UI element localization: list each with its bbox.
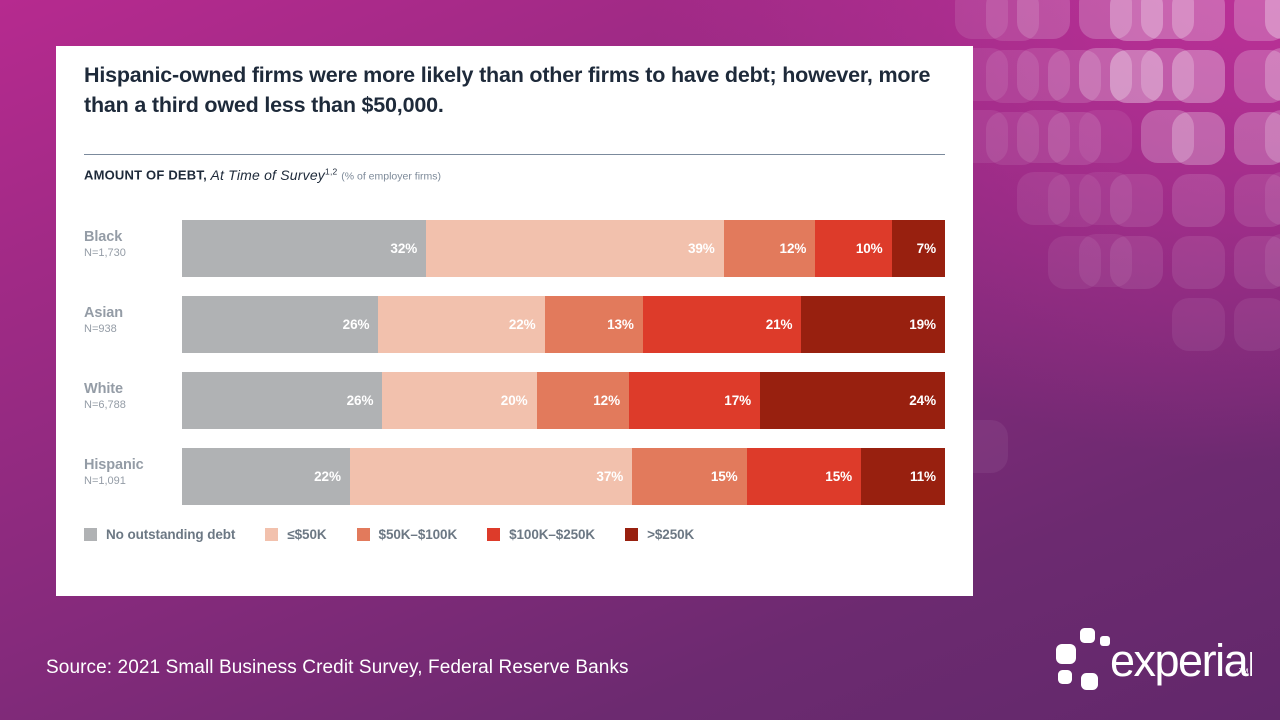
background-tile: [1172, 236, 1225, 289]
bar-segment-value: 12%: [780, 241, 807, 256]
bar-segment[interactable]: 15%: [747, 448, 861, 505]
background-tile: [1172, 0, 1225, 41]
bar-segment[interactable]: 39%: [426, 220, 724, 277]
chart-row-group-name: Black: [84, 228, 174, 246]
bar-segment[interactable]: 12%: [537, 372, 629, 429]
chart-subtitle-italic-text: At Time of Survey: [210, 167, 325, 183]
chart-row-sample-size: N=1,091: [84, 474, 174, 489]
stacked-bar: 26%22%13%21%19%: [182, 296, 945, 353]
chart-subtitle-bold: AMOUNT OF DEBT,: [84, 168, 207, 183]
background-tile: [1110, 174, 1163, 227]
stacked-bar: 22%37%15%15%11%: [182, 448, 945, 505]
bar-segment-value: 20%: [501, 393, 528, 408]
background-tile: [1234, 0, 1280, 41]
slide-canvas: Hispanic-owned firms were more likely th…: [0, 0, 1280, 720]
chart-row-sample-size: N=1,730: [84, 246, 174, 261]
background-tile: [1234, 236, 1280, 289]
legend-swatch-icon: [487, 528, 500, 541]
chart-row-label: WhiteN=6,788: [84, 380, 174, 413]
bar-segment-value: 15%: [825, 469, 852, 484]
background-tile: [986, 112, 1039, 165]
chart-row-group-name: Asian: [84, 304, 174, 322]
background-tile: [1234, 174, 1280, 227]
chart-subtitle-italic: At Time of Survey1,2: [207, 167, 338, 183]
bar-segment-value: 19%: [909, 317, 936, 332]
experian-wordmark: experian: [1110, 635, 1252, 686]
background-tile: [1172, 174, 1225, 227]
bar-segment-value: 39%: [688, 241, 715, 256]
background-tile: [1172, 112, 1225, 165]
chart-row-label: AsianN=938: [84, 304, 174, 337]
page-title: Hispanic-owned firms were more likely th…: [84, 60, 950, 120]
chart-row-group-name: Hispanic: [84, 456, 174, 474]
chart-subtitle: AMOUNT OF DEBT, At Time of Survey1,2 (% …: [84, 166, 441, 183]
background-tile: [1172, 298, 1225, 351]
legend-item-label: ≤$50K: [287, 527, 326, 542]
bar-segment-value: 22%: [314, 469, 341, 484]
bar-segment[interactable]: 22%: [378, 296, 544, 353]
background-tile: [1172, 50, 1225, 103]
bar-segment[interactable]: 24%: [760, 372, 945, 429]
legend-swatch-icon: [265, 528, 278, 541]
legend-item[interactable]: >$250K: [625, 527, 694, 542]
bar-segment-value: 17%: [724, 393, 751, 408]
bar-segment[interactable]: 10%: [815, 220, 891, 277]
bar-segment-value: 21%: [766, 317, 793, 332]
bar-segment-value: 13%: [607, 317, 634, 332]
background-tile: [1048, 236, 1101, 289]
chart-row: BlackN=1,73032%39%12%10%7%: [84, 220, 945, 277]
background-tile: [1048, 112, 1101, 165]
bar-segment[interactable]: 19%: [801, 296, 945, 353]
legend-item-label: >$250K: [647, 527, 694, 542]
background-tile: [1048, 50, 1101, 103]
bar-segment-value: 32%: [390, 241, 417, 256]
bar-segment-value: 11%: [910, 469, 936, 484]
bar-segment-value: 24%: [909, 393, 936, 408]
legend-swatch-icon: [84, 528, 97, 541]
chart-row-label: HispanicN=1,091: [84, 456, 174, 489]
bar-segment[interactable]: 12%: [724, 220, 816, 277]
bar-segment[interactable]: 22%: [182, 448, 350, 505]
bar-segment[interactable]: 11%: [861, 448, 945, 505]
legend-item[interactable]: No outstanding debt: [84, 527, 235, 542]
chart-row-group-name: White: [84, 380, 174, 398]
bar-segment[interactable]: 37%: [350, 448, 632, 505]
bar-segment[interactable]: 17%: [629, 372, 760, 429]
background-tile: [1110, 50, 1163, 103]
legend-item-label: $50K–$100K: [379, 527, 458, 542]
chart-row: HispanicN=1,09122%37%15%15%11%: [84, 448, 945, 505]
legend-swatch-icon: [357, 528, 370, 541]
divider: [84, 154, 945, 155]
legend-item[interactable]: ≤$50K: [265, 527, 326, 542]
chart-subtitle-note: (% of employer firms): [341, 171, 441, 183]
bar-segment-value: 12%: [593, 393, 620, 408]
bar-segment-value: 10%: [856, 241, 883, 256]
background-tile: [1110, 0, 1163, 41]
stacked-bar-chart: BlackN=1,73032%39%12%10%7%AsianN=93826%2…: [84, 220, 945, 524]
bar-segment[interactable]: 32%: [182, 220, 426, 277]
legend-item[interactable]: $50K–$100K: [357, 527, 458, 542]
bar-segment[interactable]: 13%: [545, 296, 643, 353]
bar-segment-value: 22%: [509, 317, 536, 332]
bar-segment[interactable]: 26%: [182, 372, 382, 429]
experian-logo-svg: experian ™: [1052, 624, 1252, 692]
bar-segment-value: 26%: [343, 317, 370, 332]
background-tile: [1234, 298, 1280, 351]
legend-item-label: $100K–$250K: [509, 527, 595, 542]
bar-segment[interactable]: 7%: [892, 220, 945, 277]
legend-item[interactable]: $100K–$250K: [487, 527, 595, 542]
background-tile: [1234, 50, 1280, 103]
background-tile: [1110, 236, 1163, 289]
experian-trademark: ™: [1238, 667, 1249, 679]
stacked-bar: 26%20%12%17%24%: [182, 372, 945, 429]
chart-subtitle-footnote-marker: 1,2: [325, 166, 337, 176]
bar-segment-value: 26%: [347, 393, 374, 408]
bar-segment[interactable]: 15%: [632, 448, 746, 505]
bar-segment[interactable]: 21%: [643, 296, 802, 353]
chart-row-sample-size: N=6,788: [84, 398, 174, 413]
legend-swatch-icon: [625, 528, 638, 541]
experian-logo: experian ™: [1052, 624, 1252, 692]
chart-card: Hispanic-owned firms were more likely th…: [56, 46, 973, 596]
source-note: Source: 2021 Small Business Credit Surve…: [46, 657, 629, 679]
experian-logo-dots: [1056, 628, 1110, 690]
bar-segment-value: 37%: [596, 469, 623, 484]
background-tile: [1234, 112, 1280, 165]
background-tile: [986, 50, 1039, 103]
background-tile: [986, 0, 1039, 41]
chart-row: AsianN=93826%22%13%21%19%: [84, 296, 945, 353]
bar-segment-value: 7%: [917, 241, 936, 256]
bar-segment[interactable]: 26%: [182, 296, 378, 353]
bar-segment-value: 15%: [711, 469, 738, 484]
chart-legend: No outstanding debt≤$50K$50K–$100K$100K–…: [84, 527, 724, 542]
chart-row-label: BlackN=1,730: [84, 228, 174, 261]
stacked-bar: 32%39%12%10%7%: [182, 220, 945, 277]
legend-item-label: No outstanding debt: [106, 527, 235, 542]
chart-row-sample-size: N=938: [84, 322, 174, 337]
bar-segment[interactable]: 20%: [382, 372, 536, 429]
background-tile: [1048, 174, 1101, 227]
chart-row: WhiteN=6,78826%20%12%17%24%: [84, 372, 945, 429]
